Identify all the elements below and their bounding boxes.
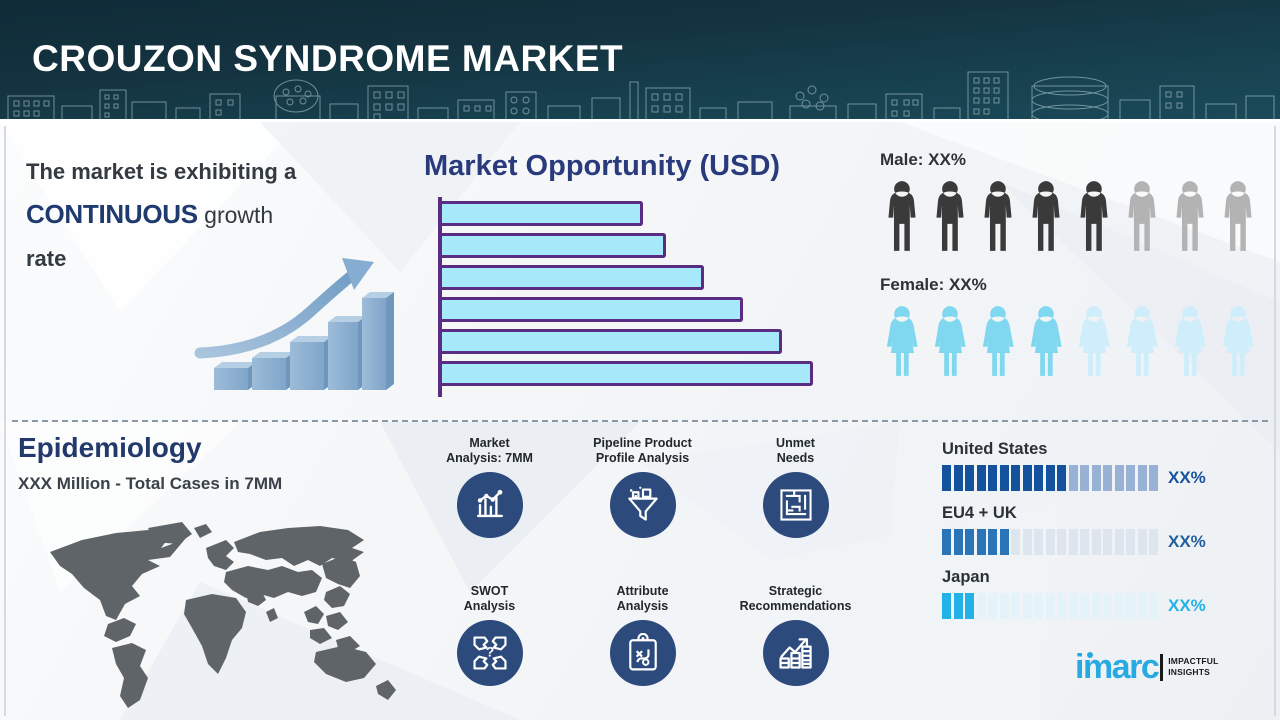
section-divider <box>12 420 1268 422</box>
region-segment <box>1011 529 1020 555</box>
content-area: The market is exhibiting a CONTINUOUS gr… <box>0 122 1280 720</box>
chart-bar <box>442 265 704 290</box>
region-row: United StatesXX% <box>942 440 1242 491</box>
region-percent: XX% <box>1168 596 1206 616</box>
analysis-item-label: Pipeline ProductProfile Analysis <box>565 432 720 466</box>
region-segment <box>954 465 963 491</box>
region-segment <box>942 529 951 555</box>
imarc-logo: imarc IMPACTFUL INSIGHTS <box>1075 650 1255 698</box>
female-person-icon <box>1168 303 1212 378</box>
region-segment <box>1149 529 1158 555</box>
region-row: JapanXX% <box>942 568 1242 619</box>
analysis-item-label: SWOTAnalysis <box>412 580 567 614</box>
analysis-icon-circle[interactable] <box>610 620 676 686</box>
funnel-filter-icon <box>623 485 663 525</box>
swot-arrows-question-icon: ? <box>470 633 510 673</box>
region-segment <box>977 593 986 619</box>
svg-text:?: ? <box>485 645 493 660</box>
region-segment <box>988 465 997 491</box>
region-segment <box>1046 465 1055 491</box>
region-segment <box>1046 529 1055 555</box>
male-person-icon <box>1168 178 1212 253</box>
analysis-item-label-line1: Attribute <box>616 584 668 599</box>
analysis-item-label: UnmetNeeds <box>718 432 873 466</box>
logo-separator <box>1160 654 1163 681</box>
epidemiology-title: Epidemiology <box>18 432 202 464</box>
female-icon-row <box>880 303 1260 378</box>
female-person-icon <box>928 303 972 378</box>
region-segment <box>1011 465 1020 491</box>
world-map-icon <box>20 500 420 715</box>
region-segment <box>1034 465 1043 491</box>
male-person-icon <box>1024 178 1068 253</box>
analysis-item-label: AttributeAnalysis <box>565 580 720 614</box>
region-segment <box>954 529 963 555</box>
region-row: EU4 + UKXX% <box>942 504 1242 555</box>
region-share-list: United StatesXX%EU4 + UKXX%JapanXX% <box>942 440 1242 632</box>
maze-icon <box>776 485 816 525</box>
region-segment <box>1000 529 1009 555</box>
region-segment <box>954 593 963 619</box>
epidemiology-subtitle: XXX Million - Total Cases in 7MM <box>18 474 282 494</box>
chart-bar <box>442 297 743 322</box>
region-name: EU4 + UK <box>942 504 1242 523</box>
region-segment <box>1126 465 1135 491</box>
male-person-icon <box>1216 178 1260 253</box>
region-segment <box>1115 529 1124 555</box>
chart-bar <box>442 233 666 258</box>
analysis-icon-circle[interactable] <box>610 472 676 538</box>
region-segment <box>1149 593 1158 619</box>
chart-bar <box>442 201 643 226</box>
region-segment <box>1080 465 1089 491</box>
infographic-page: CROUZON SYNDROME MARKET The market is ex… <box>0 0 1280 720</box>
region-segment <box>977 529 986 555</box>
analysis-item-label-line2: Recommendations <box>740 599 852 614</box>
male-person-icon <box>928 178 972 253</box>
analysis-icon-circle[interactable]: ? <box>457 620 523 686</box>
analysis-item-label-line1: SWOT <box>471 584 509 599</box>
gender-distribution: Male: XX% Female: XX% <box>880 150 1260 400</box>
page-title: CROUZON SYNDROME MARKET <box>32 38 623 80</box>
region-segment <box>1138 529 1147 555</box>
region-segment-track <box>942 529 1158 555</box>
analysis-item-label-line2: Profile Analysis <box>596 451 689 466</box>
male-label: Male: XX% <box>880 150 1260 170</box>
region-segment <box>988 593 997 619</box>
analysis-item-label-line2: Analysis: 7MM <box>446 451 533 466</box>
analysis-item-label: StrategicRecommendations <box>718 580 873 614</box>
female-person-icon <box>976 303 1020 378</box>
male-person-icon <box>880 178 924 253</box>
intro-line-1: The market is exhibiting a <box>26 150 376 193</box>
region-segment <box>1069 529 1078 555</box>
analysis-item-label-line2: Analysis <box>464 599 515 614</box>
region-segment-track <box>942 593 1158 619</box>
region-segment <box>1092 593 1101 619</box>
region-segment <box>1034 593 1043 619</box>
analysis-item-label-line1: Market <box>469 436 509 451</box>
region-segment <box>1115 465 1124 491</box>
chart-bar <box>442 329 782 354</box>
region-segment <box>1115 593 1124 619</box>
region-segment <box>1057 593 1066 619</box>
region-segment <box>1011 593 1020 619</box>
growth-bar-chart-arrow-icon <box>182 250 397 395</box>
male-person-icon <box>1072 178 1116 253</box>
logo-dot-icon <box>1087 652 1093 658</box>
region-segment-track <box>942 465 1158 491</box>
right-edge-rule <box>1274 126 1276 716</box>
region-segment <box>1023 529 1032 555</box>
analysis-icon-circle[interactable] <box>763 472 829 538</box>
analysis-item-maze[interactable]: UnmetNeeds <box>718 432 873 538</box>
analysis-item-label-line1: Pipeline Product <box>593 436 692 451</box>
male-icon-row <box>880 178 1260 253</box>
region-segment <box>1126 593 1135 619</box>
region-name: Japan <box>942 568 1242 587</box>
region-segment <box>1023 465 1032 491</box>
analysis-item-label-line1: Strategic <box>769 584 823 599</box>
analysis-item-swot-arrows-question[interactable]: SWOTAnalysis? <box>412 580 567 686</box>
analysis-item-label: MarketAnalysis: 7MM <box>412 432 567 466</box>
male-person-icon <box>976 178 1020 253</box>
region-segment <box>1069 465 1078 491</box>
region-segment <box>977 465 986 491</box>
region-percent: XX% <box>1168 468 1206 488</box>
region-segment <box>942 465 951 491</box>
analysis-item-clipboard-strategy[interactable]: AttributeAnalysis <box>565 580 720 686</box>
female-label: Female: XX% <box>880 275 1260 295</box>
region-segment <box>1023 593 1032 619</box>
logo-tagline-2: INSIGHTS <box>1168 667 1218 678</box>
region-percent: XX% <box>1168 532 1206 552</box>
region-segment <box>965 465 974 491</box>
analysis-item-label-line2: Needs <box>777 451 815 466</box>
analysis-item-growth-arrow-bars[interactable]: StrategicRecommendations <box>718 580 873 686</box>
logo-tagline-1: IMPACTFUL <box>1168 656 1218 667</box>
market-opportunity-title: Market Opportunity (USD) <box>424 150 780 183</box>
region-segment <box>1138 465 1147 491</box>
region-segment <box>988 529 997 555</box>
male-person-icon <box>1120 178 1164 253</box>
intro-emphasis: CONTINUOUS <box>26 199 198 229</box>
region-segment <box>1103 529 1112 555</box>
region-segment <box>1092 465 1101 491</box>
region-segment <box>1034 529 1043 555</box>
region-segment <box>1138 593 1147 619</box>
analysis-item-label-line1: Unmet <box>776 436 815 451</box>
growth-arrow-bars-icon <box>776 633 816 673</box>
region-segment <box>1000 465 1009 491</box>
female-person-icon <box>1120 303 1164 378</box>
analysis-icon-circle[interactable] <box>763 620 829 686</box>
analysis-icon-circle[interactable] <box>457 472 523 538</box>
region-segment <box>1103 593 1112 619</box>
region-segment <box>965 529 974 555</box>
region-segment <box>1000 593 1009 619</box>
intro-line-2-rest: growth <box>198 202 273 228</box>
region-segment <box>965 593 974 619</box>
clipboard-strategy-icon <box>623 633 663 673</box>
female-person-icon <box>1072 303 1116 378</box>
region-segment <box>1057 529 1066 555</box>
region-segment <box>942 593 951 619</box>
left-edge-rule <box>4 126 6 716</box>
female-person-icon <box>1216 303 1260 378</box>
region-segment <box>1103 465 1112 491</box>
analysis-item-label-line2: Analysis <box>617 599 668 614</box>
chart-bar <box>442 361 813 386</box>
female-person-icon <box>880 303 924 378</box>
region-segment <box>1080 593 1089 619</box>
bar-chart-line-icon <box>470 485 510 525</box>
analysis-item-funnel-filter[interactable]: Pipeline ProductProfile Analysis <box>565 432 720 538</box>
region-segment <box>1057 465 1066 491</box>
region-segment <box>1092 529 1101 555</box>
region-segment <box>1046 593 1055 619</box>
region-segment <box>1126 529 1135 555</box>
region-segment <box>1069 593 1078 619</box>
analysis-item-bar-chart-line[interactable]: MarketAnalysis: 7MM <box>412 432 567 538</box>
region-name: United States <box>942 440 1242 459</box>
region-segment <box>1149 465 1158 491</box>
market-opportunity-chart <box>438 197 828 397</box>
female-person-icon <box>1024 303 1068 378</box>
region-segment <box>1080 529 1089 555</box>
analysis-icon-grid: MarketAnalysis: 7MMPipeline ProductProfi… <box>412 432 882 717</box>
header-banner: CROUZON SYNDROME MARKET <box>0 0 1280 122</box>
